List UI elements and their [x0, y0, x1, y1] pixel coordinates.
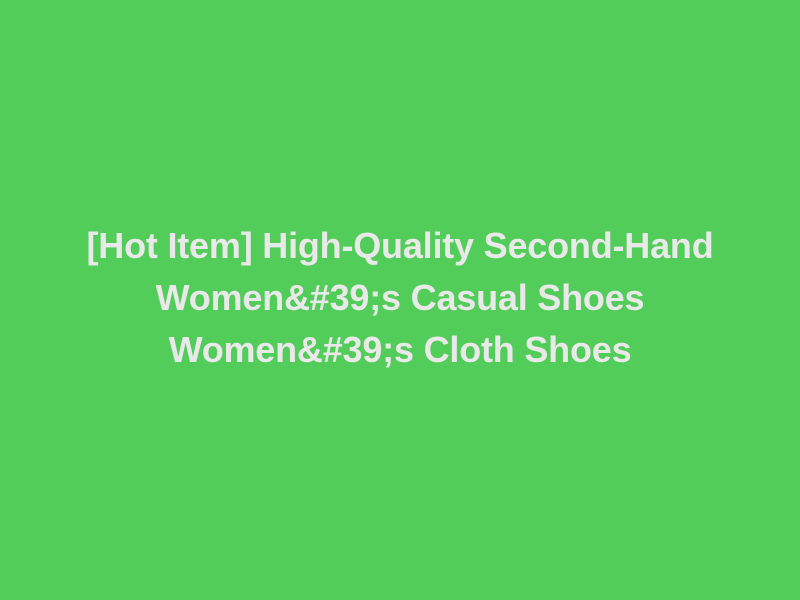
title-block: [Hot Item] High-Quality Second-Hand Wome… [52, 222, 748, 378]
placeholder-card: [Hot Item] High-Quality Second-Hand Wome… [0, 0, 800, 600]
page-title: [Hot Item] High-Quality Second-Hand Wome… [52, 220, 748, 376]
